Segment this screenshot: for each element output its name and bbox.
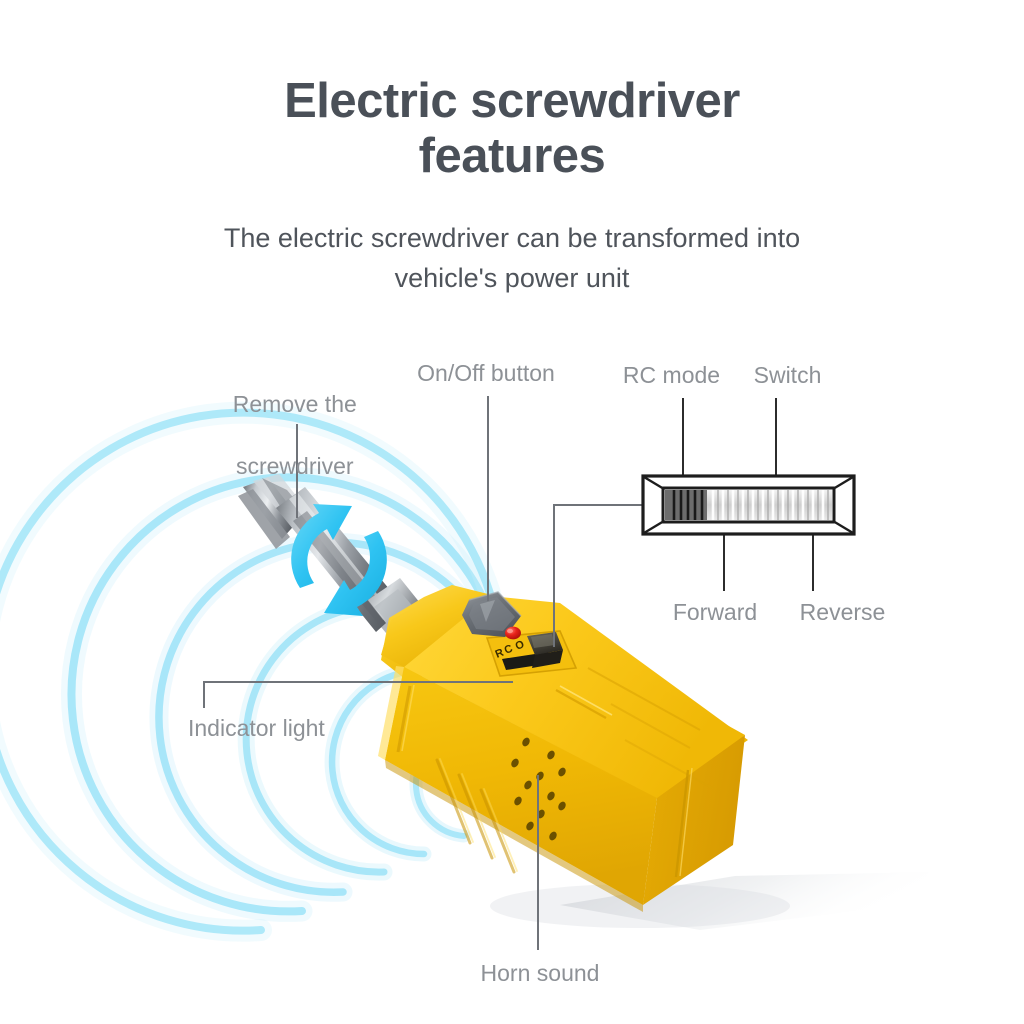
label-remove-screwdriver-line1: Remove the — [233, 391, 357, 417]
label-switch: Switch — [735, 360, 840, 390]
leader-line-reverse — [812, 534, 814, 591]
device-body — [378, 585, 748, 912]
label-forward: Forward — [645, 597, 785, 627]
switch-detail-panel — [641, 474, 856, 536]
label-reverse: Reverse — [775, 597, 910, 627]
leader-line-switch-label — [775, 398, 777, 476]
label-remove-screwdriver: Remove the screwdriver — [192, 358, 372, 513]
leader-line-switch-vertical — [553, 505, 555, 647]
leader-line-indicator-horizontal — [203, 681, 513, 683]
label-horn-sound: Horn sound — [455, 958, 625, 988]
label-rc-mode: RC mode — [604, 360, 739, 390]
leader-line-on-off-button — [487, 396, 489, 601]
leader-line-forward — [723, 534, 725, 591]
indicator-light — [505, 627, 521, 640]
label-on-off-button: On/Off button — [396, 358, 576, 388]
label-remove-screwdriver-line2: screwdriver — [236, 453, 354, 479]
leader-line-switch-horizontal — [553, 504, 653, 506]
leader-line-indicator-vertical — [203, 682, 205, 708]
drop-shadow — [490, 872, 930, 930]
infographic-canvas: Electric screwdriver features The electr… — [0, 0, 1024, 1024]
leader-line-rc-mode — [682, 398, 684, 476]
leader-line-horn-sound — [537, 775, 539, 950]
label-indicator-light: Indicator light — [188, 713, 378, 743]
product-illustration: R C O S — [0, 0, 1024, 1024]
